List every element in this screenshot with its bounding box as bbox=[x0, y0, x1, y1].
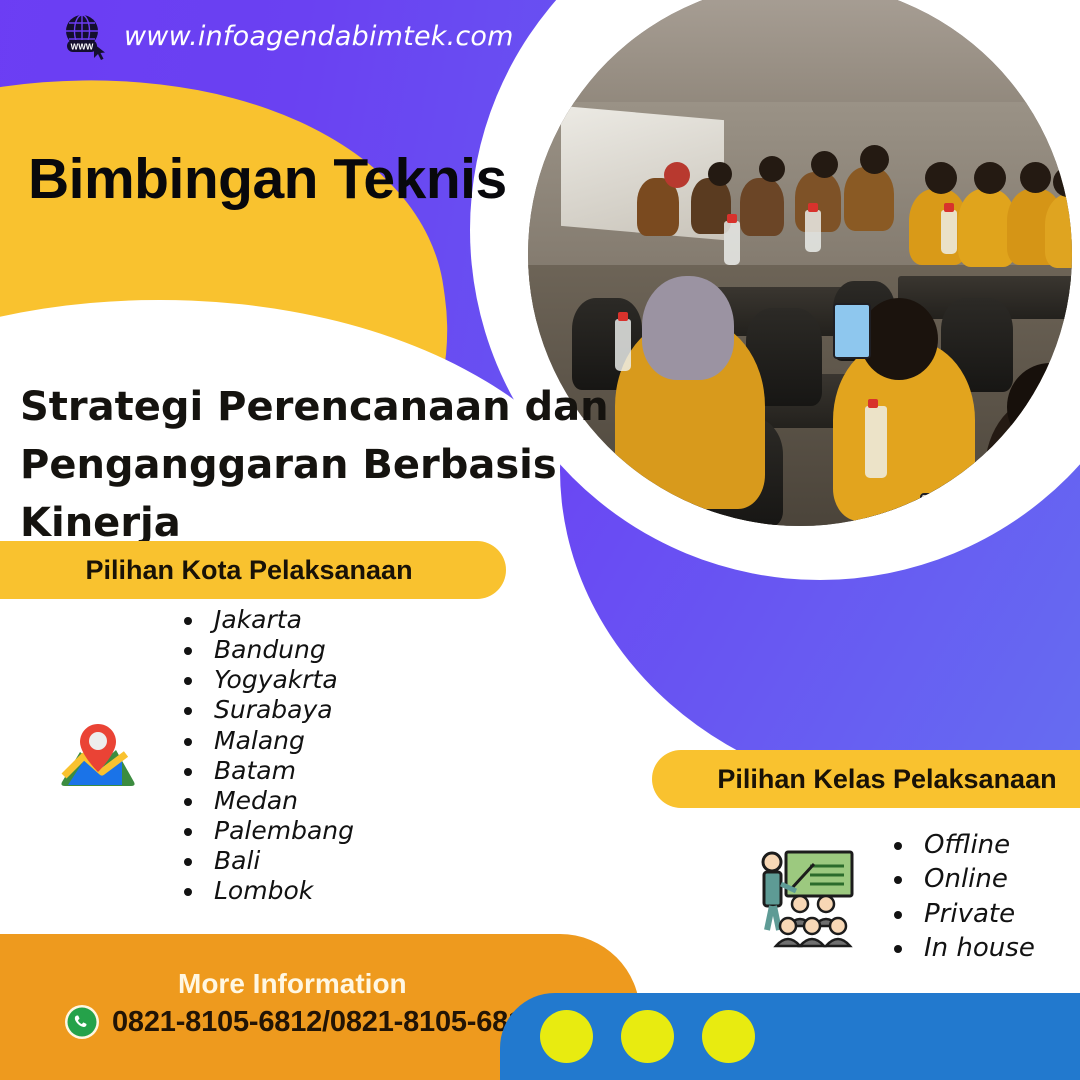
class-list-block: Offline Online Private In house bbox=[752, 828, 1035, 965]
class-section-header: Pilihan Kelas Pelaksanaan bbox=[652, 750, 1080, 808]
site-url-text: www.infoagendabimtek.com bbox=[124, 21, 514, 52]
city-list-block: Jakarta Bandung Yogyakrta Surabaya Malan… bbox=[48, 605, 354, 906]
page-title: Bimbingan Teknis bbox=[28, 146, 507, 212]
smartphone bbox=[833, 303, 871, 359]
classroom-training-icon bbox=[752, 844, 864, 949]
dot-1 bbox=[540, 1010, 593, 1063]
promo-poster: WWW www.infoagendabimtek.com Bimbingan T… bbox=[0, 0, 1080, 1080]
list-item: Surabaya bbox=[206, 695, 354, 725]
list-item: In house bbox=[916, 931, 1035, 965]
list-item: Palembang bbox=[206, 816, 354, 846]
subtitle: Strategi Perencanaan dan Penganggaran Be… bbox=[20, 378, 620, 552]
city-pill-label: Pilihan Kota Pelaksanaan bbox=[85, 555, 412, 586]
more-information-label: More Information bbox=[178, 968, 407, 1000]
whatsapp-icon[interactable] bbox=[64, 1004, 100, 1040]
list-item: Offline bbox=[916, 828, 1035, 862]
list-item: Lombok bbox=[206, 876, 354, 906]
map-location-icon bbox=[48, 706, 148, 806]
dot-2 bbox=[621, 1010, 674, 1063]
list-item: Private bbox=[916, 897, 1035, 931]
decorative-dots bbox=[540, 1010, 755, 1063]
city-list: Jakarta Bandung Yogyakrta Surabaya Malan… bbox=[168, 605, 354, 906]
svg-text:WWW: WWW bbox=[71, 43, 94, 52]
city-section-header: Pilihan Kota Pelaksanaan bbox=[0, 541, 506, 599]
dot-3 bbox=[702, 1010, 755, 1063]
phone-numbers[interactable]: 0821-8105-6812/0821-8105-6813 bbox=[112, 1006, 540, 1039]
list-item: Medan bbox=[206, 786, 354, 816]
list-item: Jakarta bbox=[206, 605, 354, 635]
list-item: Online bbox=[916, 862, 1035, 896]
list-item: Bali bbox=[206, 846, 354, 876]
list-item: Yogyakrta bbox=[206, 665, 354, 695]
globe-www-icon: WWW bbox=[58, 10, 110, 62]
class-pill-label: Pilihan Kelas Pelaksanaan bbox=[717, 764, 1056, 795]
list-item: Malang bbox=[206, 726, 354, 756]
list-item: Batam bbox=[206, 756, 354, 786]
phone-contact-row[interactable]: 0821-8105-6812/0821-8105-6813 bbox=[64, 1004, 540, 1040]
class-list: Offline Online Private In house bbox=[878, 828, 1035, 965]
subtitle-line-2: Penganggaran Berbasis Kinerja bbox=[20, 436, 620, 552]
list-item: Bandung bbox=[206, 635, 354, 665]
subtitle-line-1: Strategi Perencanaan dan bbox=[20, 384, 609, 430]
site-url-row: WWW www.infoagendabimtek.com bbox=[58, 10, 514, 62]
